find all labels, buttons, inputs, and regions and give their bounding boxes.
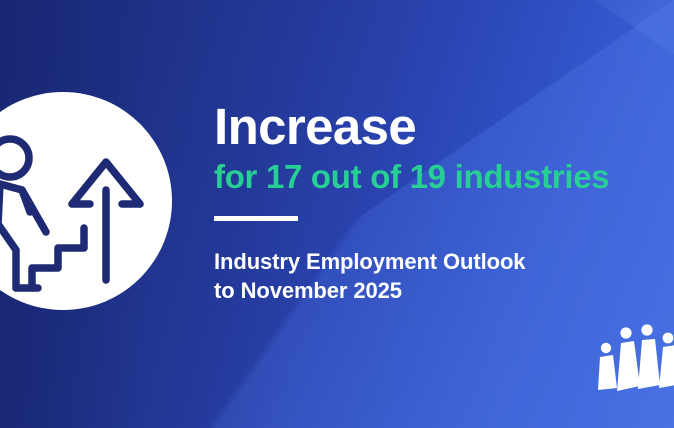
subtitle: for 17 out of 19 industries: [214, 157, 609, 197]
deck-line-2: to November 2025: [214, 276, 609, 305]
deck-line-1: Industry Employment Outlook: [214, 247, 609, 276]
promo-banner: Increase for 17 out of 19 industries Ind…: [0, 0, 674, 428]
four-figures-fan-logo: [590, 322, 674, 400]
divider: [214, 216, 298, 221]
banner-text-block: Increase for 17 out of 19 industries Ind…: [214, 100, 609, 305]
page-title: Increase: [214, 100, 609, 154]
person-climbing-stairs-with-up-arrow-icon: [0, 92, 172, 310]
